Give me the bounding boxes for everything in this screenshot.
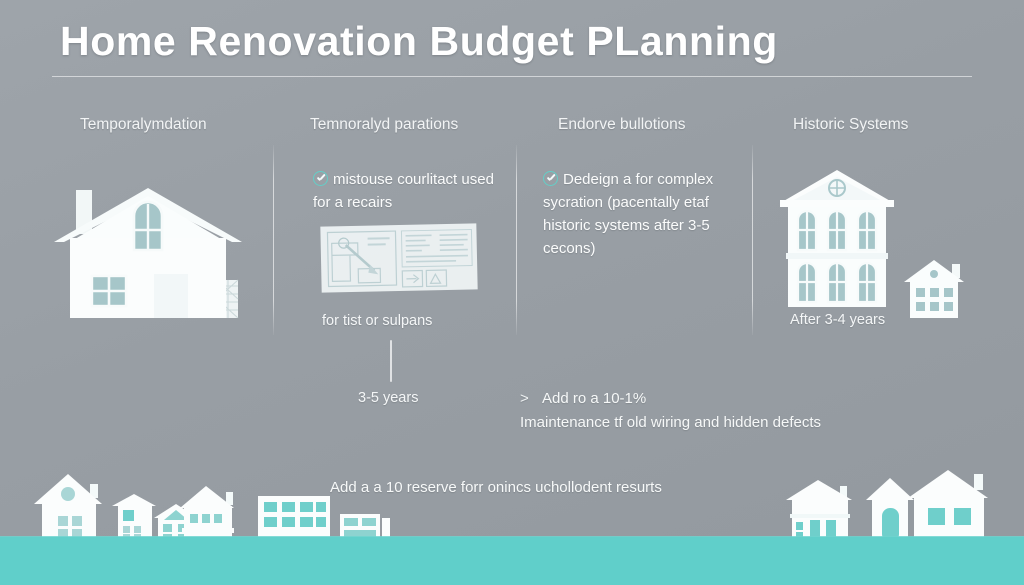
column-2-bullet: mistouse courlitact used for a recairs [313, 168, 503, 214]
column-heading-3: Endorve bullotions [558, 116, 686, 134]
column-3-bullet-text: Dedeign a for complex sycration (pacenta… [543, 171, 713, 257]
column-4-sub-label: After 3-4 years [790, 312, 885, 328]
skyline-right-illustration [782, 470, 1012, 542]
column-3-bullet: Dedeign a for complex sycration (pacenta… [543, 168, 723, 260]
callout-block: >Add ro a 10-1% Imaintenance tf old wiri… [520, 387, 940, 435]
historic-building-icon [778, 168, 896, 308]
skyline-left-illustration [30, 472, 390, 542]
small-house-icon [900, 258, 972, 318]
column-divider-3 [752, 145, 753, 335]
blueprint-document-icon [318, 222, 480, 294]
timeline-connector [390, 340, 392, 382]
check-circle-icon [313, 171, 328, 186]
column-2-sub-label: for tist or sulpans [322, 313, 432, 329]
callout-line-1-text: Add ro a 10-1% [542, 390, 646, 407]
house-icon [48, 186, 248, 318]
title-divider [52, 76, 972, 77]
callout-line-2: Imaintenance tf old wiring and hidden de… [520, 411, 940, 435]
infographic-canvas: Home Renovation Budget PLanning Temporal… [0, 0, 1024, 585]
callout-line-1: >Add ro a 10-1% [520, 387, 940, 411]
page-title: Home Renovation Budget PLanning [60, 18, 960, 65]
column-2-bullet-text: mistouse courlitact used for a recairs [313, 171, 494, 211]
chevron-right-icon: > [520, 387, 542, 411]
ground-band [0, 537, 1024, 585]
column-heading-1: Temporalymdation [80, 116, 207, 134]
column-heading-4: Historic Systems [793, 116, 908, 134]
column-heading-2: Temnoralyd parations [310, 116, 458, 134]
check-circle-icon [543, 171, 558, 186]
column-2-timeline-label: 3-5 years [358, 390, 418, 406]
column-divider-1 [273, 145, 274, 335]
column-divider-2 [516, 145, 517, 335]
footer-note: Add a a 10 reserve forr onincs uchollode… [330, 479, 850, 496]
